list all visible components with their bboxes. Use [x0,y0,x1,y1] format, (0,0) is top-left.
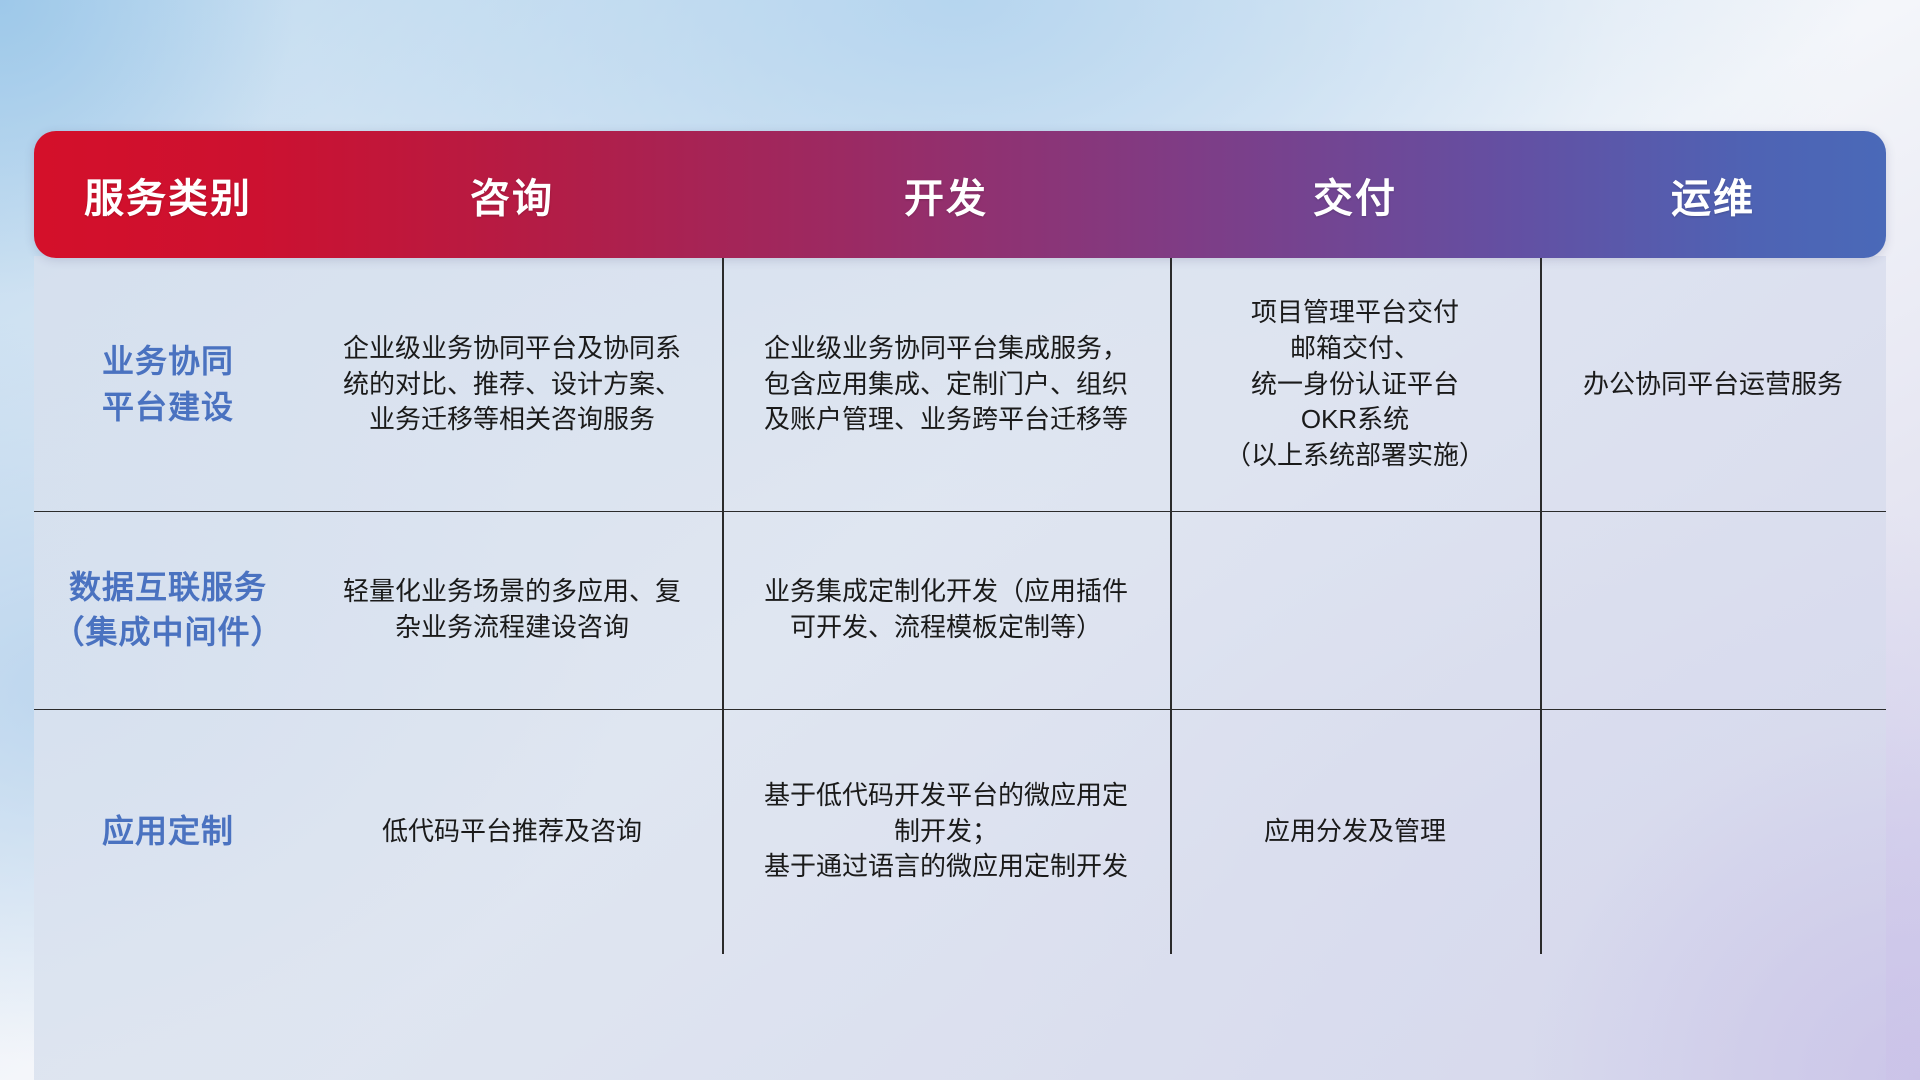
cell-operations [1540,511,1886,709]
table-row: 应用定制 低代码平台推荐及咨询 基于低代码开发平台的微应用定 制开发； 基于通过… [34,709,1886,954]
row-category-label: 数据互联服务 （集成中间件） [34,511,302,709]
header-cell-operations: 运维 [1540,166,1886,224]
header-cell-delivery: 交付 [1170,166,1540,224]
cell-consulting: 低代码平台推荐及咨询 [302,709,722,954]
header-cell-consulting: 咨询 [302,166,722,224]
row-category-label: 业务协同 平台建设 [34,258,302,511]
cell-consulting: 企业级业务协同平台及协同系 统的对比、推荐、设计方案、 业务迁移等相关咨询服务 [302,258,722,511]
cell-delivery: 应用分发及管理 [1170,709,1540,954]
table-body: 业务协同 平台建设 企业级业务协同平台及协同系 统的对比、推荐、设计方案、 业务… [34,258,1886,954]
cell-development: 业务集成定制化开发（应用插件 可开发、流程模板定制等） [722,511,1170,709]
table-row: 数据互联服务 （集成中间件） 轻量化业务场景的多应用、复 杂业务流程建设咨询 业… [34,511,1886,709]
cell-consulting: 轻量化业务场景的多应用、复 杂业务流程建设咨询 [302,511,722,709]
cell-operations: 办公协同平台运营服务 [1540,258,1886,511]
header-cell-development: 开发 [722,166,1170,224]
table-header-row: 服务类别 咨询 开发 交付 运维 [34,131,1886,258]
slide-canvas: 服务类别 咨询 开发 交付 运维 业务协同 平台建设 企业级业务协同平台及协同系… [0,0,1920,1080]
cell-development: 企业级业务协同平台集成服务， 包含应用集成、定制门户、组织 及账户管理、业务跨平… [722,258,1170,511]
cell-delivery: 项目管理平台交付 邮箱交付、 统一身份认证平台 OKR系统 （以上系统部署实施） [1170,258,1540,511]
cell-operations [1540,709,1886,954]
header-cell-service-category: 服务类别 [34,166,302,224]
cell-development: 基于低代码开发平台的微应用定 制开发； 基于通过语言的微应用定制开发 [722,709,1170,954]
service-matrix-table: 服务类别 咨询 开发 交付 运维 业务协同 平台建设 企业级业务协同平台及协同系… [34,131,1886,955]
row-category-label: 应用定制 [34,709,302,954]
table-row: 业务协同 平台建设 企业级业务协同平台及协同系 统的对比、推荐、设计方案、 业务… [34,258,1886,511]
cell-delivery [1170,511,1540,709]
